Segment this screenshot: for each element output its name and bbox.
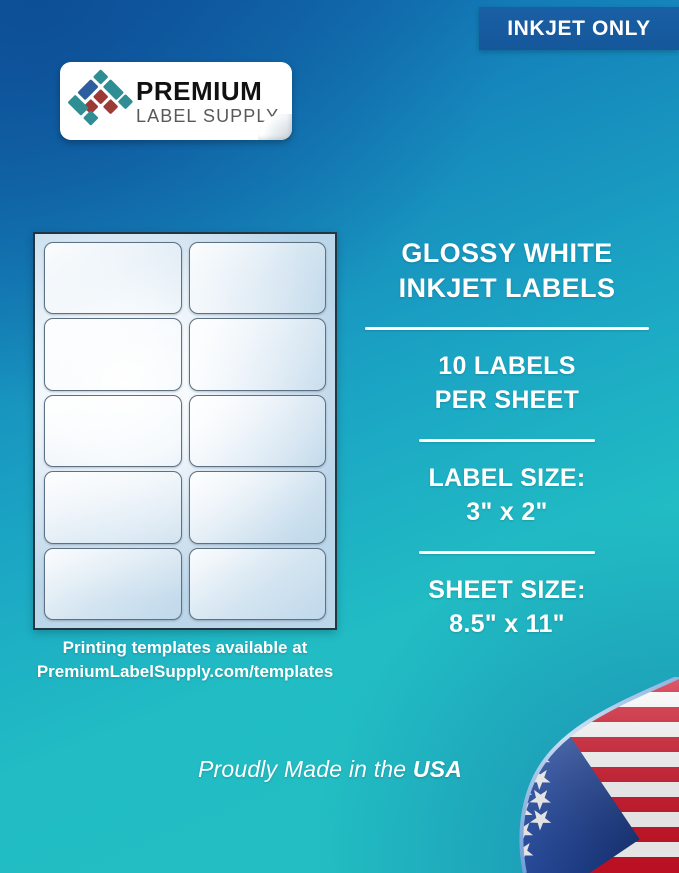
inkjet-only-banner: INKJET ONLY: [479, 7, 679, 50]
brand-name-primary: PREMIUM: [136, 78, 279, 104]
made-in-usa-country: USA: [413, 756, 462, 782]
made-in-usa-prefix: Proudly Made in the: [198, 756, 413, 782]
sheet-size-title: SHEET SIZE:: [358, 574, 656, 608]
inkjet-only-label: INKJET ONLY: [507, 17, 651, 41]
sheet-size-spec: SHEET SIZE: 8.5" x 11": [358, 574, 656, 641]
label-cell: [44, 548, 182, 620]
product-heading-line1: GLOSSY WHITE: [358, 236, 656, 271]
templates-note-line1: Printing templates available at: [0, 636, 370, 660]
label-sheet-illustration: [33, 232, 337, 630]
divider-rule: [365, 327, 649, 330]
label-cell: [44, 471, 182, 543]
product-poster: INKJET ONLY PREMIUM LABEL SUPPLY: [0, 0, 679, 873]
labels-count-line2: PER SHEET: [358, 384, 656, 418]
diamond-grid-logo-icon: [66, 67, 134, 135]
templates-note-url: PremiumLabelSupply.com/templates: [0, 660, 370, 684]
sheet-size-value: 8.5" x 11": [358, 608, 656, 642]
product-info-column: GLOSSY WHITE INKJET LABELS 10 LABELS PER…: [358, 236, 656, 641]
product-heading: GLOSSY WHITE INKJET LABELS: [358, 236, 656, 305]
usa-flag-page-curl: [507, 677, 679, 873]
label-cell: [189, 242, 327, 314]
brand-logo-card: PREMIUM LABEL SUPPLY: [60, 62, 292, 140]
label-cell: [44, 318, 182, 390]
label-cell: [44, 395, 182, 467]
product-heading-line2: INKJET LABELS: [358, 271, 656, 306]
label-cell: [44, 242, 182, 314]
flag-graphic: [507, 677, 679, 873]
labels-per-sheet-spec: 10 LABELS PER SHEET: [358, 350, 656, 417]
label-size-spec: LABEL SIZE: 3" x 2": [358, 462, 656, 529]
label-cell: [189, 548, 327, 620]
labels-count-line1: 10 LABELS: [358, 350, 656, 384]
label-cell: [189, 395, 327, 467]
divider-rule: [419, 551, 595, 554]
label-cell: [189, 471, 327, 543]
label-grid: [44, 242, 326, 620]
templates-note: Printing templates available at PremiumL…: [0, 636, 370, 684]
label-size-value: 3" x 2": [358, 496, 656, 530]
label-size-title: LABEL SIZE:: [358, 462, 656, 496]
brand-wordmark: PREMIUM LABEL SUPPLY: [136, 78, 279, 125]
brand-name-secondary: LABEL SUPPLY: [136, 107, 279, 125]
divider-rule: [419, 439, 595, 442]
label-cell: [189, 318, 327, 390]
